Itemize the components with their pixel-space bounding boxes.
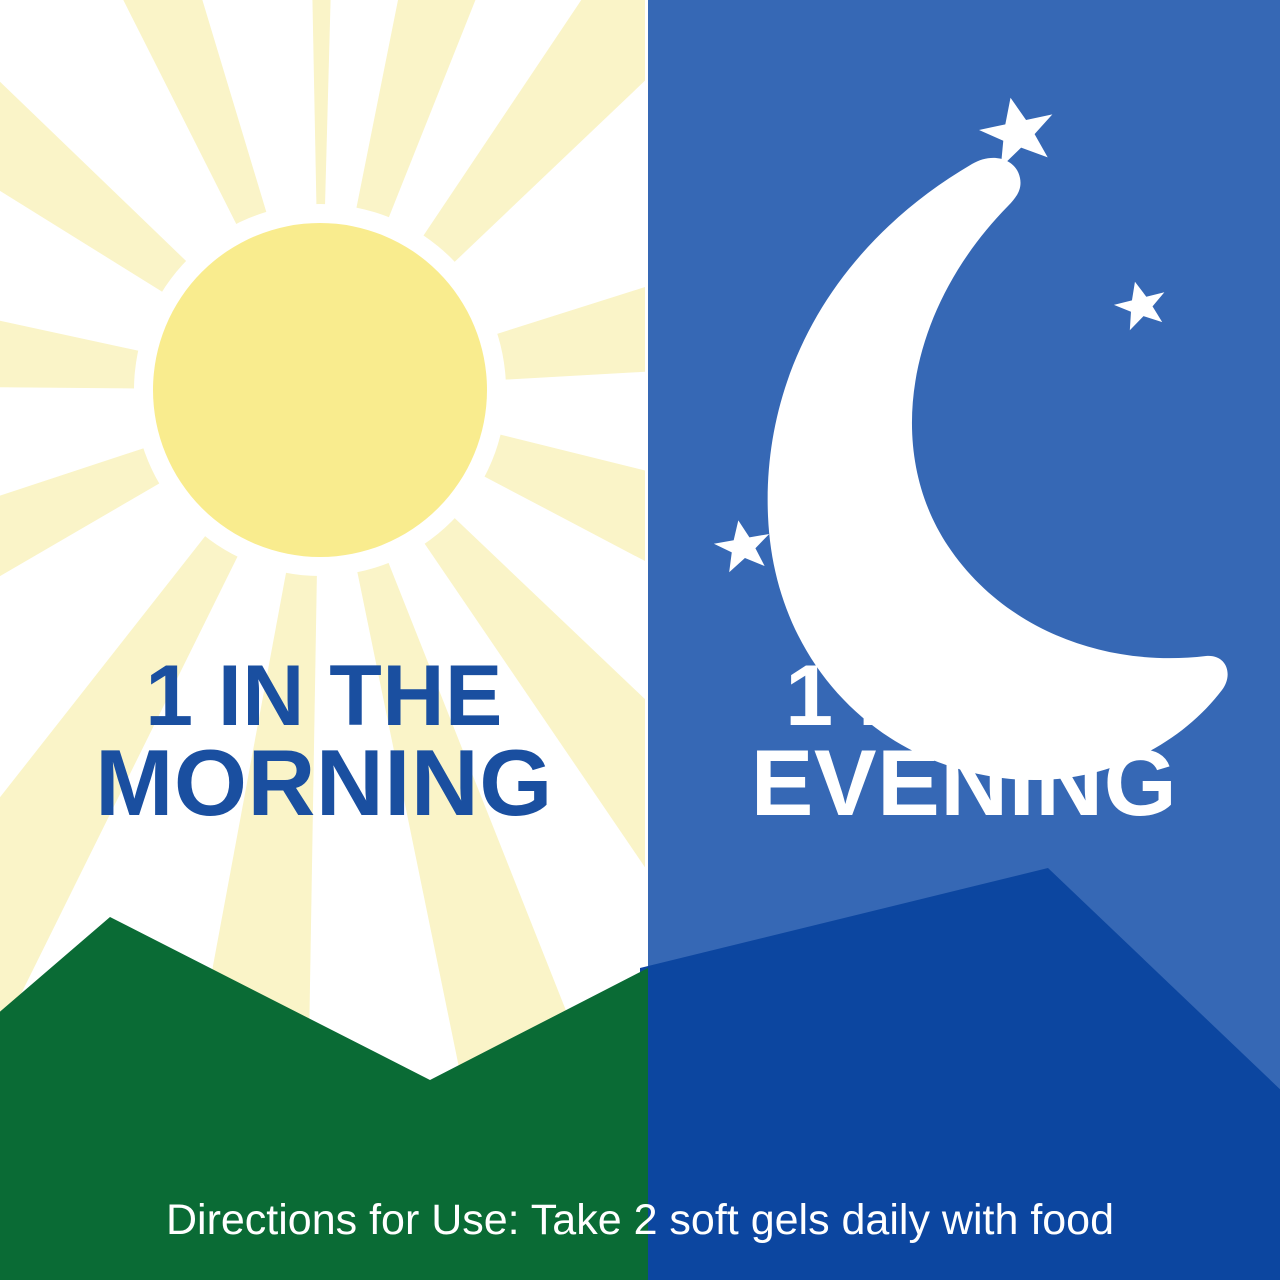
illustration-layer [0, 0, 1280, 1280]
sun-icon [153, 223, 487, 557]
dosage-instruction-poster: 1 IN THE MORNING 1 IN THE EVENING Direct… [0, 0, 1280, 1280]
